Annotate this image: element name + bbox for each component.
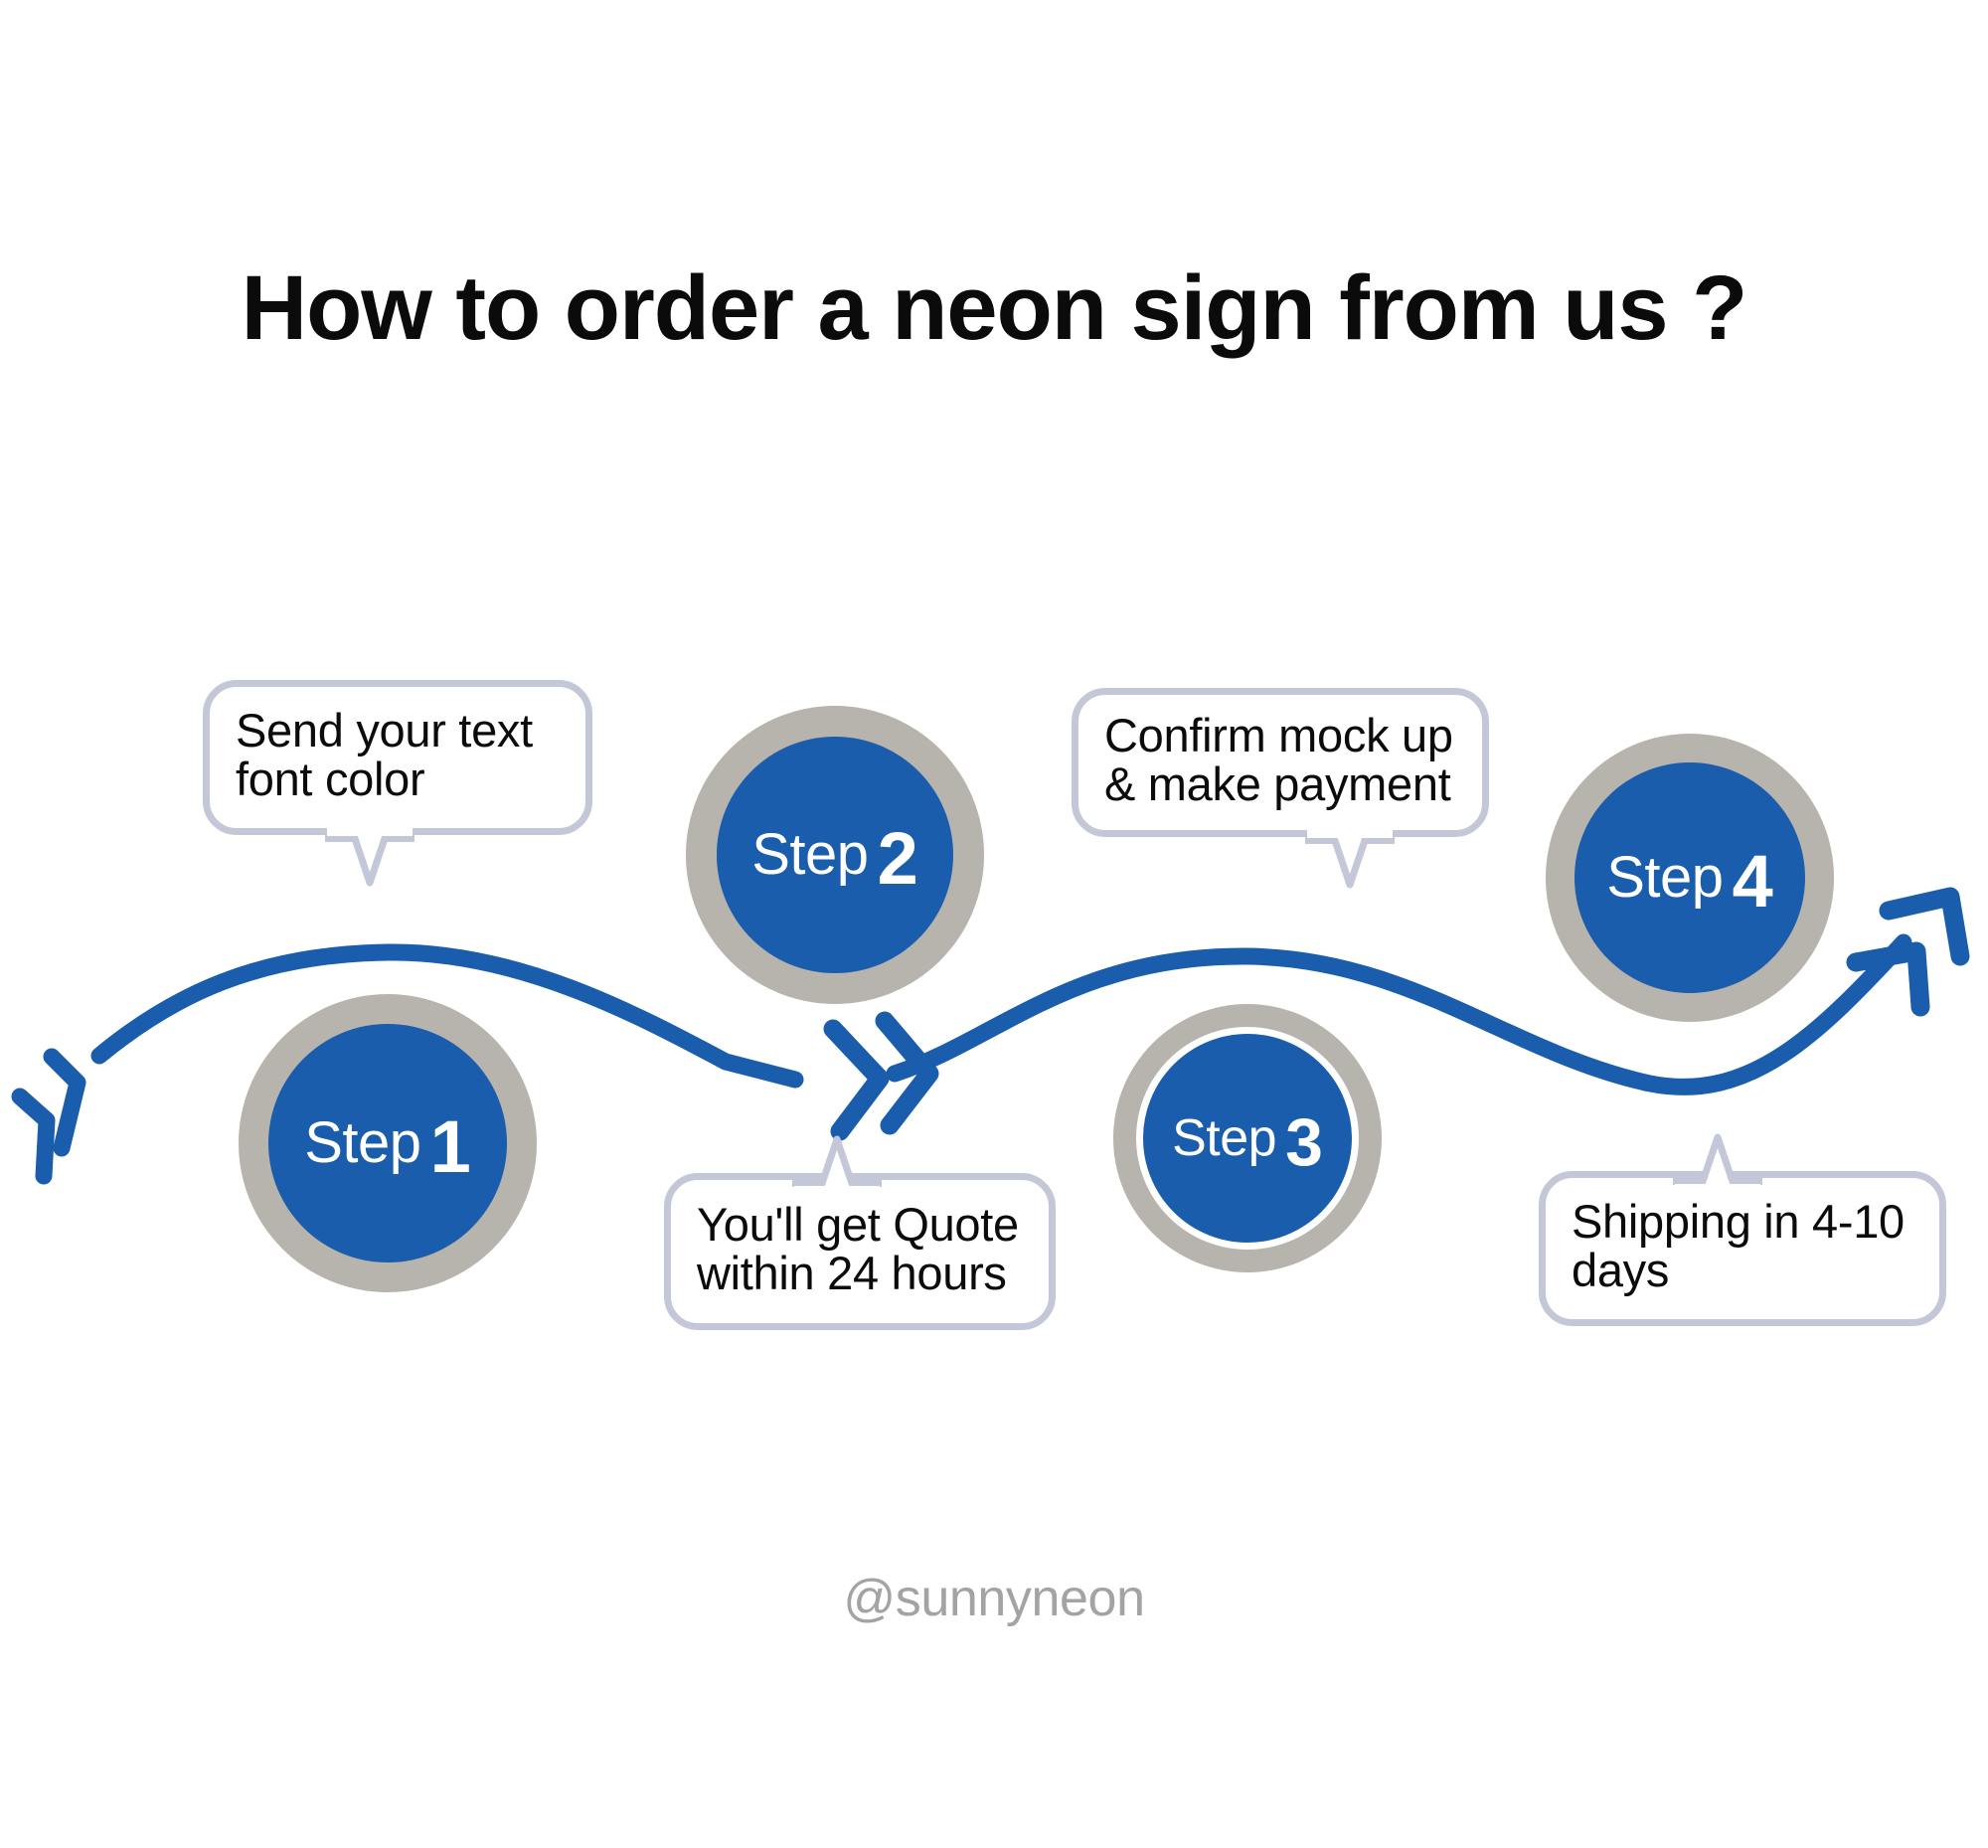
callout-step-3-line-1: Confirm mock up (1104, 712, 1453, 760)
callout-step-2-text: You'll get Quote within 24 hours (697, 1201, 1019, 1298)
callout-step-4-tail (1673, 1127, 1758, 1179)
callout-step-3-line-2: & make payment (1104, 760, 1453, 809)
callout-step-2-tail (792, 1129, 878, 1181)
step-number-4: 4 (1733, 845, 1773, 919)
step-node-1[interactable]: Step 1 (239, 994, 537, 1292)
page-title: How to order a neon sign from us ? (0, 256, 1988, 361)
step-number-1: 1 (430, 1110, 471, 1184)
step-circle-1: Step 1 (268, 1024, 507, 1262)
callout-step-4-line-1: Shipping in 4-10 (1572, 1198, 1905, 1247)
callout-step-1[interactable]: Send your text font color (203, 680, 592, 835)
step-circle-3: Step 3 (1136, 1027, 1359, 1250)
step-label-1: Step (304, 1114, 420, 1172)
step-circle-4: Step 4 (1574, 762, 1805, 993)
callout-step-4-line-2: days (1572, 1247, 1905, 1295)
flow-mid-chevrons (833, 1021, 929, 1131)
callout-step-2-line-2: within 24 hours (697, 1250, 1019, 1298)
callout-step-2-line-1: You'll get Quote (697, 1201, 1019, 1250)
step-label-3: Step (1172, 1112, 1276, 1164)
callout-step-3-text: Confirm mock up & make payment (1104, 712, 1453, 809)
step-node-4[interactable]: Step 4 (1546, 734, 1834, 1022)
callout-step-1-text: Send your text font color (236, 707, 533, 804)
callout-step-1-line-2: font color (236, 756, 533, 804)
callout-step-4[interactable]: Shipping in 4-10 days (1539, 1171, 1946, 1326)
callout-step-3-tail (1305, 837, 1391, 889)
step-label-2: Step (751, 826, 868, 884)
flow-start-chevrons (20, 1057, 78, 1176)
step-circle-2: Step 2 (717, 737, 953, 973)
step-node-3[interactable]: Step 3 (1113, 1004, 1382, 1272)
callout-step-3[interactable]: Confirm mock up & make payment (1072, 688, 1489, 837)
flow-end-arrowhead (1856, 897, 1960, 1007)
step-label-4: Step (1606, 849, 1723, 907)
callout-step-4-text: Shipping in 4-10 days (1572, 1198, 1905, 1295)
callout-step-1-line-1: Send your text (236, 707, 533, 756)
infographic-canvas: How to order a neon sign from us ? Step … (0, 0, 1988, 1848)
step-number-3: 3 (1285, 1108, 1323, 1176)
step-node-2[interactable]: Step 2 (686, 706, 984, 1004)
step-number-2: 2 (878, 822, 918, 896)
callout-step-2[interactable]: You'll get Quote within 24 hours (664, 1173, 1056, 1330)
watermark: @sunnyneon (0, 1569, 1988, 1628)
callout-step-1-tail (325, 835, 411, 887)
